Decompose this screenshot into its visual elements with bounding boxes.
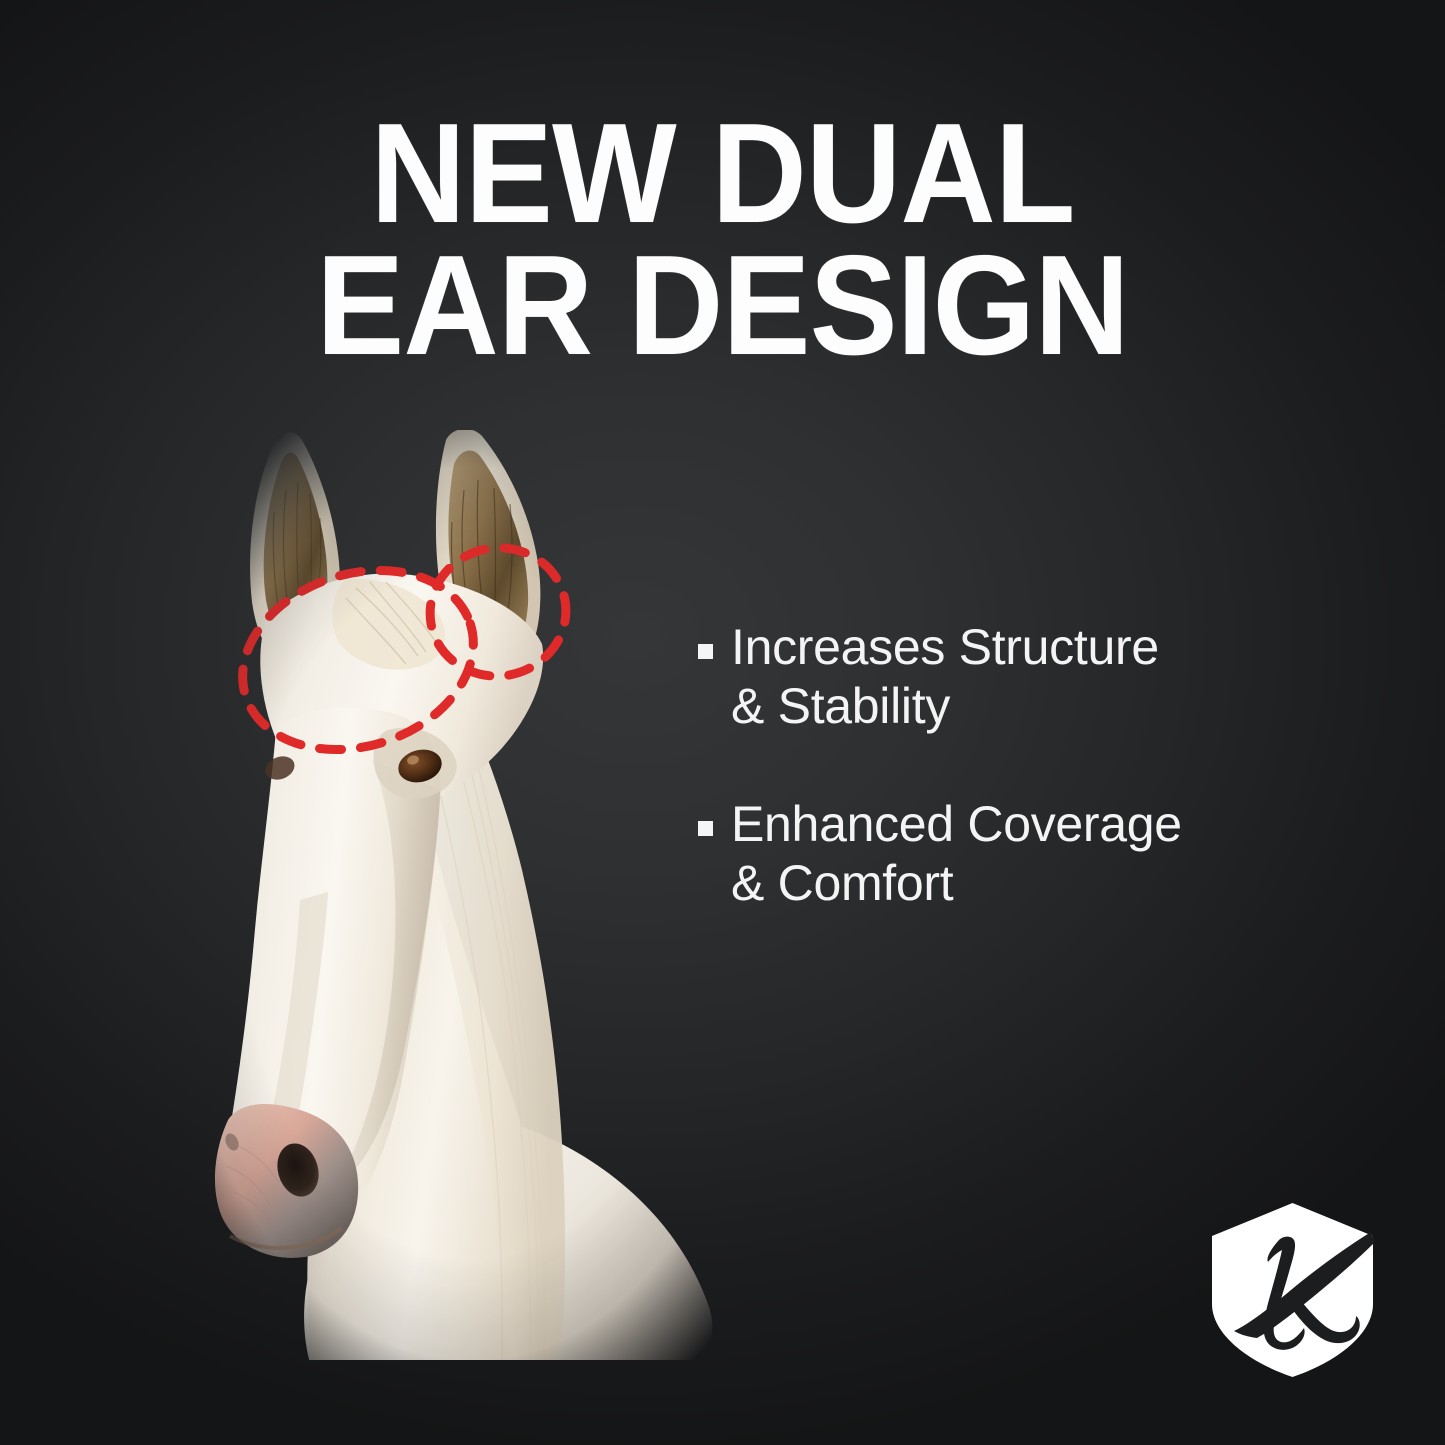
square-bullet-icon xyxy=(698,644,713,659)
bullet-line-1: Increases Structure xyxy=(731,619,1159,675)
bullet-text: Increases Structure & Stability xyxy=(731,618,1159,735)
square-bullet-icon xyxy=(698,821,713,836)
bullet-text: Enhanced Coverage & Comfort xyxy=(731,795,1182,912)
list-item: Enhanced Coverage & Comfort xyxy=(698,795,1358,912)
horse-image-group xyxy=(215,430,712,1360)
headline-line-1: NEW DUAL xyxy=(51,108,1395,240)
brand-logo xyxy=(1205,1200,1380,1380)
bullet-line-1: Enhanced Coverage xyxy=(731,796,1182,852)
page-title: NEW DUAL EAR DESIGN xyxy=(51,108,1395,372)
list-item: Increases Structure & Stability xyxy=(698,618,1358,735)
bullet-line-2: & Stability xyxy=(731,678,950,734)
horse-product-photo xyxy=(150,430,770,1360)
feature-bullet-list: Increases Structure & Stability Enhanced… xyxy=(698,618,1358,912)
bullet-line-2: & Comfort xyxy=(731,855,953,911)
headline-line-2: EAR DESIGN xyxy=(51,240,1395,372)
promo-banner: NEW DUAL EAR DESIGN Increases Structure … xyxy=(0,0,1445,1445)
